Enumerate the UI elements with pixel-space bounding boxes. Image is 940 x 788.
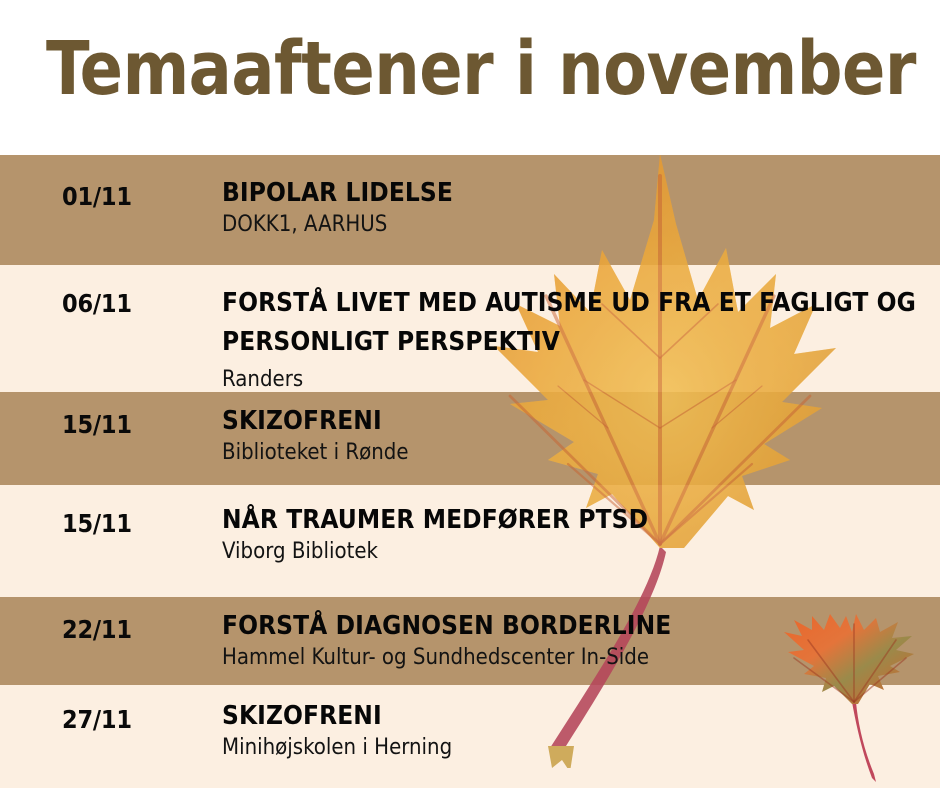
event-date: 06/11 <box>62 289 132 318</box>
event-date: 15/11 <box>62 410 132 439</box>
event-body: SKIZOFRENI Minihøjskolen i Herning <box>222 700 930 762</box>
event-title: BIPOLAR LIDELSE <box>222 177 930 209</box>
event-title: NÅR TRAUMER MEDFØRER PTSD <box>222 504 930 536</box>
event-location: Randers <box>222 366 930 394</box>
event-date: 15/11 <box>62 509 132 538</box>
event-location: Biblioteket i Rønde <box>222 439 930 467</box>
event-row[interactable]: 15/11 NÅR TRAUMER MEDFØRER PTSD Viborg B… <box>0 485 940 597</box>
poster-canvas: Temaaftener i november 01/11 BIPOLAR LID… <box>0 0 940 788</box>
event-date: 22/11 <box>62 615 132 644</box>
event-body: BIPOLAR LIDELSE DOKK1, AARHUS <box>222 177 930 239</box>
page-title: Temaaftener i november <box>46 26 916 112</box>
event-location: DOKK1, AARHUS <box>222 211 930 239</box>
event-title: SKIZOFRENI <box>222 405 930 437</box>
event-row[interactable]: 22/11 FORSTÅ DIAGNOSEN BORDERLINE Hammel… <box>0 597 940 685</box>
event-row[interactable]: 15/11 SKIZOFRENI Biblioteket i Rønde <box>0 392 940 485</box>
event-body: FORSTÅ LIVET MED AUTISME UD FRA ET FAGLI… <box>222 284 930 394</box>
event-row[interactable]: 01/11 BIPOLAR LIDELSE DOKK1, AARHUS <box>0 155 940 265</box>
event-location: Viborg Bibliotek <box>222 538 930 566</box>
event-title: FORSTÅ DIAGNOSEN BORDERLINE <box>222 610 930 642</box>
event-location: Hammel Kultur- og Sundhedscenter In-Side <box>222 644 930 672</box>
event-title: SKIZOFRENI <box>222 700 930 732</box>
event-location: Minihøjskolen i Herning <box>222 734 930 762</box>
event-body: NÅR TRAUMER MEDFØRER PTSD Viborg Bibliot… <box>222 504 930 566</box>
event-body: SKIZOFRENI Biblioteket i Rønde <box>222 405 930 467</box>
title-bar: Temaaftener i november <box>0 0 940 155</box>
event-row[interactable]: 06/11 FORSTÅ LIVET MED AUTISME UD FRA ET… <box>0 265 940 392</box>
event-date: 27/11 <box>62 705 132 734</box>
event-row[interactable]: 27/11 SKIZOFRENI Minihøjskolen i Herning <box>0 685 940 788</box>
event-date: 01/11 <box>62 182 132 211</box>
event-body: FORSTÅ DIAGNOSEN BORDERLINE Hammel Kultu… <box>222 610 930 672</box>
event-title: FORSTÅ LIVET MED AUTISME UD FRA ET FAGLI… <box>222 284 930 362</box>
